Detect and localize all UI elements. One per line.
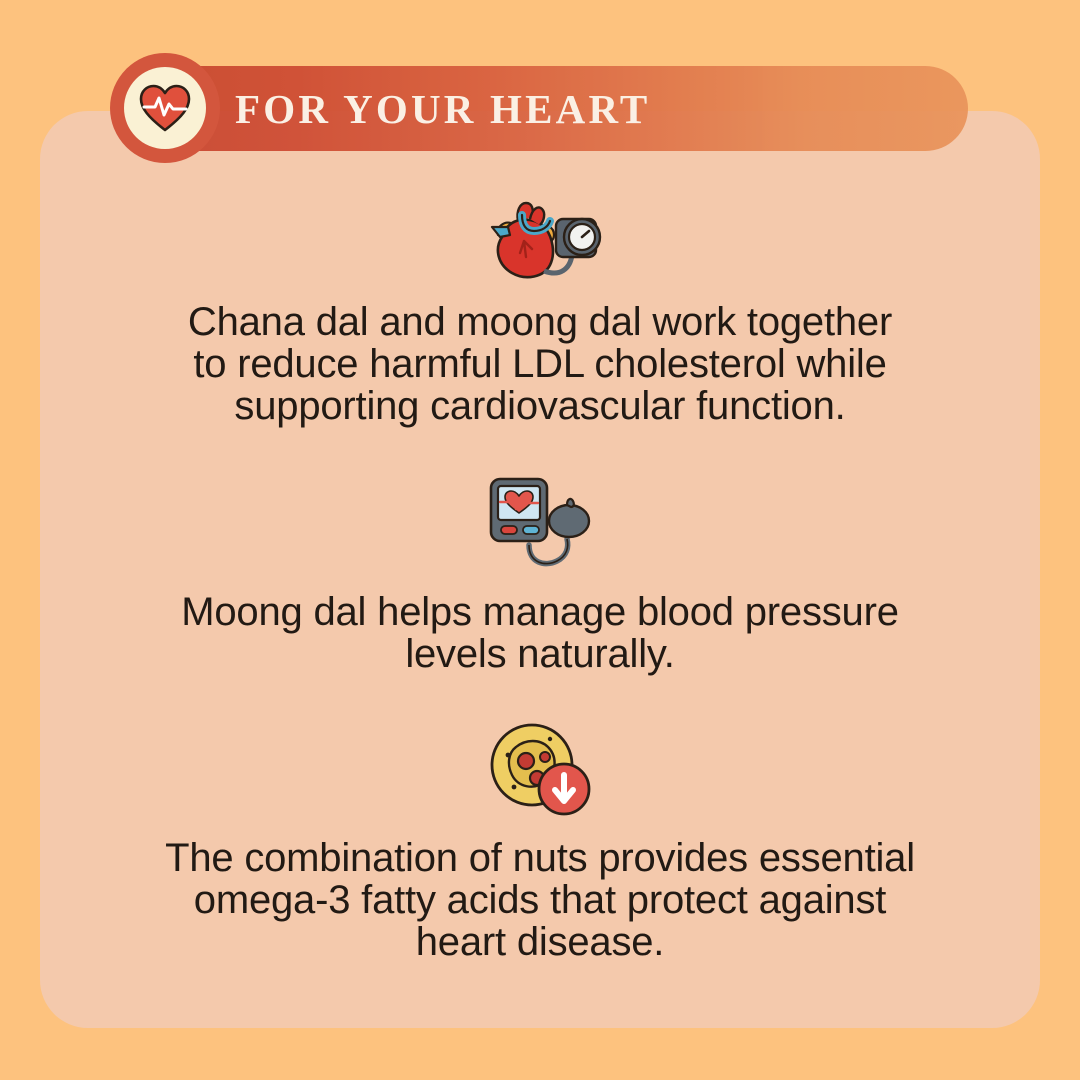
section-text: Chana dal and moong dal work together to… [40, 301, 1040, 427]
sections-container: Chana dal and moong dal work together to… [40, 151, 1040, 1028]
section-text: The combination of nuts provides essenti… [40, 837, 1040, 963]
blood-pressure-monitor-icon [485, 471, 595, 571]
page-title: FOR YOUR HEART [235, 85, 650, 133]
header-banner: FOR YOUR HEART [150, 66, 968, 151]
section-icon-wrapper [40, 191, 1040, 283]
heart-blood-pressure-gauge-icon [478, 197, 602, 283]
section-text: Moong dal helps manage blood pressure le… [40, 591, 1040, 675]
section-icon-wrapper [40, 719, 1040, 817]
heart-pulse-icon [138, 83, 192, 133]
section-omega3: The combination of nuts provides essenti… [40, 719, 1040, 963]
badge-inner-circle [124, 67, 206, 149]
section-blood-pressure: Moong dal helps manage blood pressure le… [40, 471, 1040, 675]
section-icon-wrapper [40, 471, 1040, 571]
header-badge [110, 53, 220, 163]
cholesterol-down-arrow-icon [488, 721, 592, 817]
section-cholesterol: Chana dal and moong dal work together to… [40, 191, 1040, 427]
